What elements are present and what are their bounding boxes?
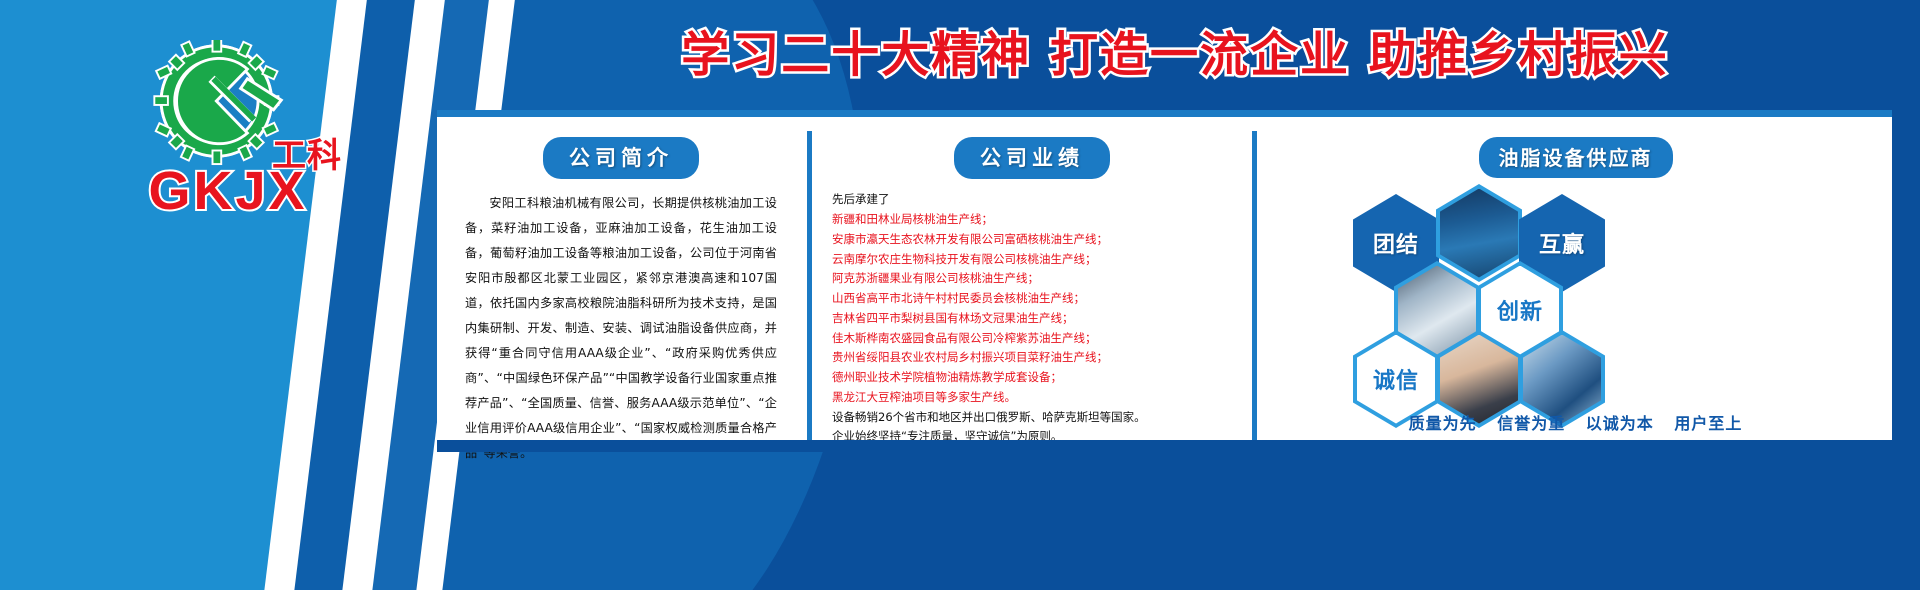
hex-aircraft-carrier-photo-icon: [1436, 184, 1522, 282]
list-item: 佳木斯桦南农盛园食品有限公司冷榨紫苏油生产线；: [832, 329, 1236, 349]
panel-heading-company-performance: 公司业绩: [954, 137, 1110, 179]
poster-canvas: 工科 GKJX 学习二十大精神 打造一流企业 助推乡村振兴 公司简介 安阳工科粮…: [0, 0, 1920, 590]
list-item: 黑龙江大豆榨油项目等多家生产线。: [832, 388, 1236, 408]
panel-supplier: 油脂设备供应商 团结 互赢: [1267, 123, 1884, 440]
supplier-slogan: 质量为先 信誉为重 以诚为本 用户至上: [1267, 410, 1884, 434]
list-item: 吉林省四平市梨树县国有林场文冠果油生产线；: [832, 309, 1236, 329]
list-item: 山西省高平市北诗午村村民委员会核桃油生产线；: [832, 289, 1236, 309]
company-logo: 工科 GKJX: [128, 40, 328, 230]
slogan-word-3: 以诚为本: [1586, 414, 1654, 433]
title-banner: 学习二十大精神 打造一流企业 助推乡村振兴: [430, 0, 1920, 100]
list-item: 安康市瀛天生态农林开发有限公司富硒核桃油生产线；: [832, 230, 1236, 250]
hex-label: 诚信: [1373, 363, 1419, 395]
list-item: 贵州省绥阳县农业农村局乡村振兴项目菜籽油生产线；: [832, 348, 1236, 368]
hex-label: 创新: [1497, 294, 1543, 326]
panel-company-performance: 公司业绩 先后承建了 新疆和田林业局核桃油生产线； 安康市瀛天生态农林开发有限公…: [822, 123, 1242, 440]
panel-divider-1: [807, 131, 812, 443]
logo-chinese-text: 工科: [272, 128, 342, 177]
list-item: 德州职业技术学院植物油精炼教学成套设备；: [832, 368, 1236, 388]
performance-lead: 先后承建了: [828, 191, 1236, 207]
list-item: 新疆和田林业局核桃油生产线；: [832, 210, 1236, 230]
company-profile-body: 安阳工科粮油机械有限公司，长期提供核桃油加工设备，菜籽油加工设备，亚麻油加工设备…: [451, 191, 791, 466]
slogan-word-1: 质量为先: [1409, 414, 1477, 433]
panel-heading-supplier: 油脂设备供应商: [1479, 137, 1673, 178]
hex-label: 团结: [1373, 227, 1419, 259]
panel-company-profile: 公司简介 安阳工科粮油机械有限公司，长期提供核桃油加工设备，菜籽油加工设备，亚麻…: [445, 123, 797, 440]
card-bottom-strip: [437, 440, 1892, 452]
performance-tail-1: 设备畅销26个省市和地区并出口俄罗斯、哈萨克斯坦等国家。: [828, 408, 1236, 428]
panel-heading-company-profile: 公司简介: [543, 137, 699, 179]
performance-list: 新疆和田林业局核桃油生产线； 安康市瀛天生态农林开发有限公司富硒核桃油生产线； …: [828, 210, 1236, 408]
list-item: 云南摩尔农庄生物科技开发有限公司核桃油生产线；: [832, 250, 1236, 270]
hexagon-cluster: 团结 互赢 创新: [1273, 190, 1878, 405]
banner-title: 学习二十大精神 打造一流企业 助推乡村振兴: [681, 15, 1668, 85]
slogan-word-4: 用户至上: [1674, 414, 1742, 433]
slogan-word-2: 信誉为重: [1497, 414, 1565, 433]
hex-label: 互赢: [1539, 227, 1585, 259]
aircraft-carrier-photo: [1440, 189, 1518, 278]
list-item: 阿克苏浙疆果业有限公司核桃油生产线；: [832, 269, 1236, 289]
panel-divider-2: [1252, 131, 1257, 443]
content-card: 公司简介 安阳工科粮油机械有限公司，长期提供核桃油加工设备，菜籽油加工设备，亚麻…: [437, 110, 1892, 440]
